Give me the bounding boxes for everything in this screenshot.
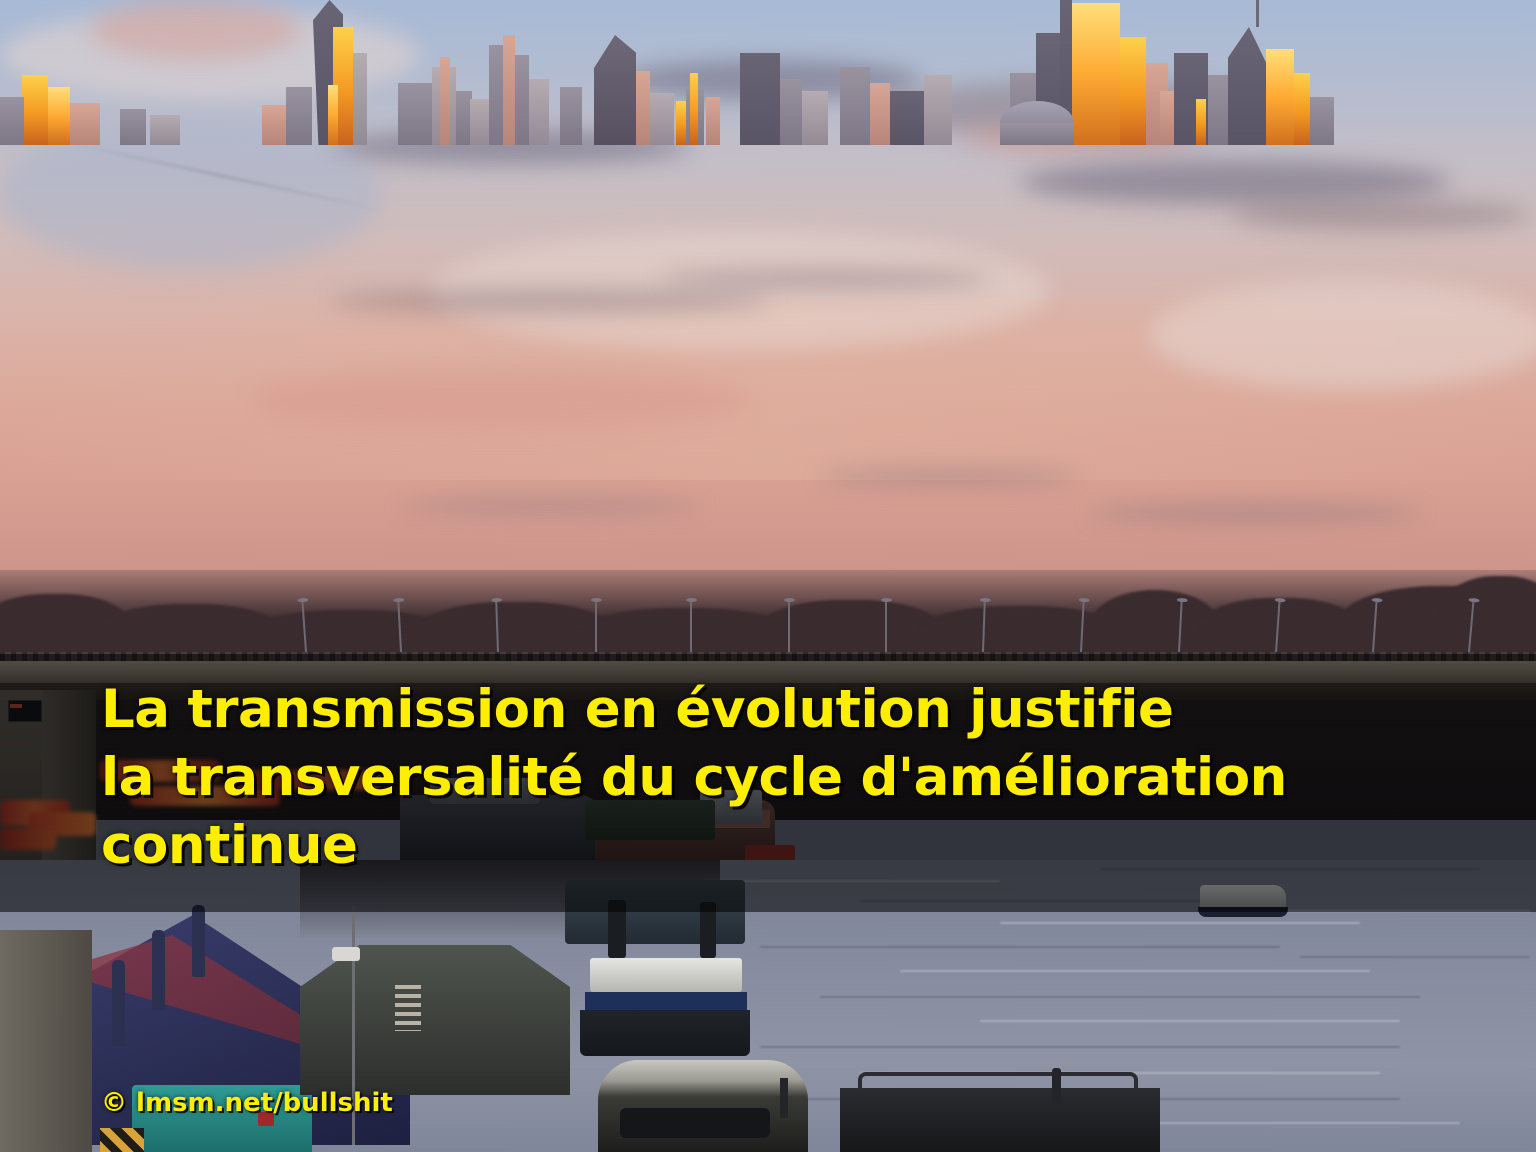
barge-dark <box>300 945 570 1095</box>
poster-canvas: La transmission en évolution justifie la… <box>0 0 1536 1152</box>
bollard <box>152 930 165 1010</box>
mast <box>780 1078 788 1118</box>
headline-text: La transmission en évolution justifie la… <box>101 676 1441 880</box>
barge-name-board <box>590 958 742 992</box>
mooring-post <box>1052 1068 1061 1104</box>
barge-blue-band <box>585 992 747 1010</box>
funnel <box>700 902 716 958</box>
barge-hull <box>580 1010 750 1056</box>
antenna-spire <box>1256 0 1259 27</box>
lamp-post <box>595 600 597 652</box>
deck-railing <box>858 1072 1138 1090</box>
lamp-post <box>885 600 887 652</box>
small-boat-hull <box>1198 907 1288 917</box>
flower-box <box>0 828 56 850</box>
boat-window-band <box>620 1108 770 1138</box>
quay-sign-stripe <box>10 704 22 708</box>
lamp-post <box>690 600 692 652</box>
ladder <box>395 985 421 1031</box>
bridge-railing <box>0 652 1536 661</box>
barge-bottom-right <box>840 1088 1160 1152</box>
quay-wall-lower <box>0 930 92 1152</box>
barge-center-deck <box>565 880 745 944</box>
bollard <box>192 905 205 977</box>
funnel <box>608 900 626 958</box>
boat-foreground <box>598 1060 808 1152</box>
mast-light <box>332 947 360 961</box>
hazard-stripes <box>100 1128 144 1152</box>
treeline <box>0 570 1536 662</box>
lamp-post <box>788 600 790 652</box>
bollard <box>112 960 125 1046</box>
credit-watermark: © lmsm.net/bullshit <box>101 1088 393 1118</box>
